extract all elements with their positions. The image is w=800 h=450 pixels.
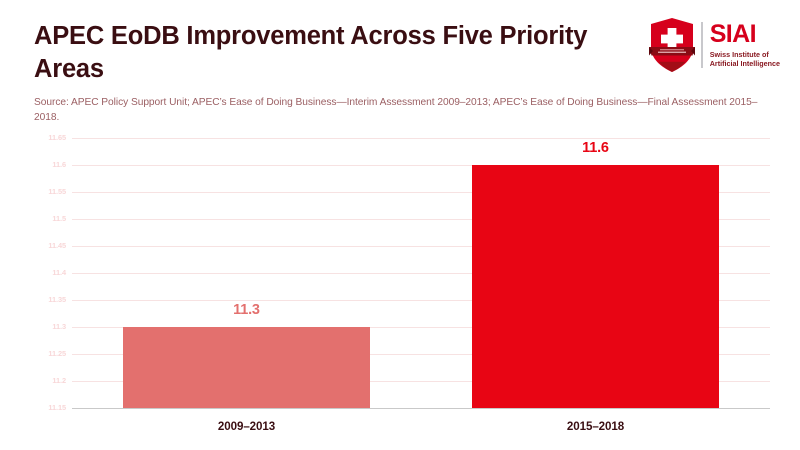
y-axis-tick-label: 11.5 (20, 214, 66, 223)
y-axis-tick-label: 11.25 (20, 349, 66, 358)
y-axis-tick-label: 11.35 (20, 295, 66, 304)
y-axis-tick-label: 11.65 (20, 133, 66, 142)
logo-acronym: SIAI (710, 22, 780, 47)
logo-wordmark: SIAI Swiss Institute of Artificial Intel… (710, 22, 780, 68)
y-axis-tick-label: 11.4 (20, 268, 66, 277)
bar-value-label: 11.6 (472, 140, 719, 156)
swiss-cross-shield-icon (647, 17, 697, 73)
logo-subtitle: Swiss Institute of Artificial Intelligen… (710, 50, 780, 68)
x-axis-tick-label: 2015–2018 (421, 420, 770, 433)
siai-logo: SIAI Swiss Institute of Artificial Intel… (630, 14, 780, 76)
slide-canvas: APEC EoDB Improvement Across Five Priori… (0, 0, 800, 450)
plot-area (72, 138, 770, 408)
logo-divider (701, 22, 703, 68)
y-axis-tick-label: 11.3 (20, 322, 66, 331)
gridline (72, 138, 770, 139)
y-axis-tick-label: 11.45 (20, 241, 66, 250)
y-axis-tick-label: 11.6 (20, 160, 66, 169)
slide-header: APEC EoDB Improvement Across Five Priori… (0, 0, 800, 132)
source-note: Source: APEC Policy Support Unit; APEC’s… (34, 96, 776, 126)
y-axis-tick-label: 11.55 (20, 187, 66, 196)
page-title: APEC EoDB Improvement Across Five Priori… (34, 20, 594, 86)
x-axis-tick-label: 2009–2013 (72, 420, 421, 433)
y-axis-tick-label: 11.15 (20, 403, 66, 412)
bar[interactable] (123, 327, 370, 408)
bar-value-label: 11.3 (123, 302, 370, 318)
y-axis-tick-label: 11.2 (20, 376, 66, 385)
bar-chart: 11.6511.611.5511.511.4511.411.3511.311.2… (0, 132, 800, 450)
bar[interactable] (472, 165, 719, 408)
